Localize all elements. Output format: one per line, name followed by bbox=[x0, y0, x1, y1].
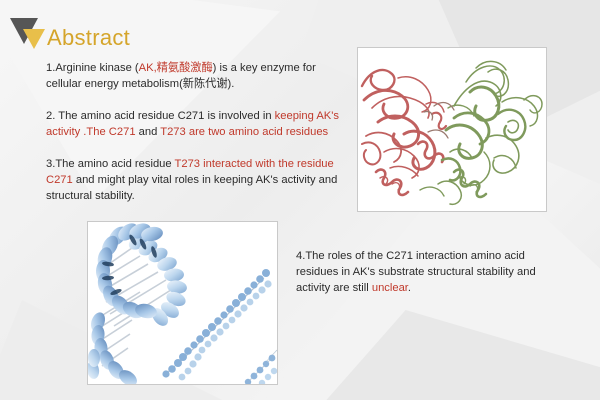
text-segment-2: and bbox=[136, 126, 161, 138]
abstract-paragraph-4: 4.The roles of the C271 interaction amin… bbox=[296, 248, 558, 296]
triangle-gold-icon bbox=[23, 29, 45, 49]
page-title: Abstract bbox=[47, 25, 130, 51]
text-segment-0: 3.The amino acid residue bbox=[46, 158, 175, 170]
text-segment-1: AK,精氨酸激酶 bbox=[139, 62, 213, 74]
text-segment-0: 4.The roles of the C271 interaction amin… bbox=[296, 250, 536, 294]
triangle-logo-icon bbox=[8, 18, 50, 56]
protein-ribbon-structure-image bbox=[357, 47, 547, 212]
text-segment-0: 2. The amino acid residue C271 is involv… bbox=[46, 110, 275, 122]
text-segment-0: 1.Arginine kinase ( bbox=[46, 62, 139, 74]
text-segment-2: . bbox=[408, 282, 411, 294]
text-segment-3: T273 are two amino acid residues bbox=[160, 126, 328, 138]
abstract-paragraph-2: 2. The amino acid residue C271 is involv… bbox=[46, 108, 346, 140]
dna-helix-svg bbox=[88, 222, 277, 384]
text-segment-1: unclear bbox=[372, 282, 408, 294]
abstract-paragraph-1: 1.Arginine kinase (AK,精氨酸激酶) is a key en… bbox=[46, 60, 346, 92]
abstract-paragraph-3: 3.The amino acid residue T273 interacted… bbox=[46, 156, 346, 204]
protein-ribbon-svg bbox=[358, 48, 546, 211]
slide-canvas: Abstract 1.Arginine kinase (AK,精氨酸激酶) is… bbox=[0, 0, 600, 400]
background-polygon-4 bbox=[300, 310, 600, 400]
text-segment-2: and might play vital roles in keeping AK… bbox=[46, 174, 337, 202]
dna-double-helix-image bbox=[87, 221, 278, 385]
